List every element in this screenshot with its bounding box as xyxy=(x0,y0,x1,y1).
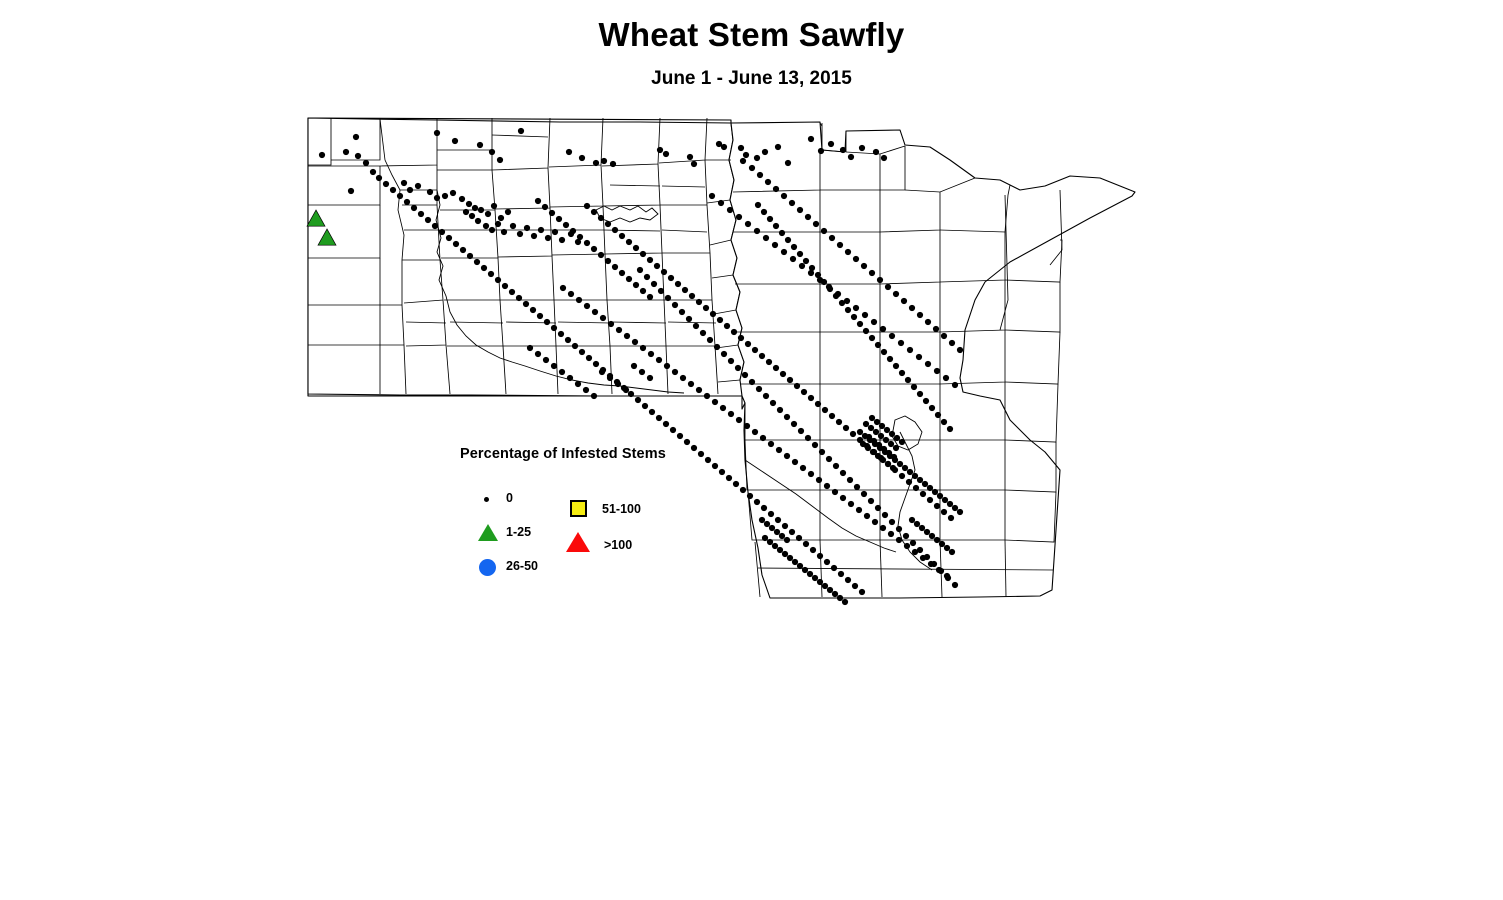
map-marker-0 xyxy=(883,437,889,443)
map-marker-0 xyxy=(495,221,501,227)
map-marker-0 xyxy=(775,144,781,150)
page-root: Wheat Stem Sawfly June 1 - June 13, 2015 xyxy=(0,0,1503,900)
map-marker-0 xyxy=(912,473,918,479)
map-marker-0 xyxy=(939,541,945,547)
map-marker-0 xyxy=(632,339,638,345)
map-marker-0 xyxy=(799,263,805,269)
map-marker-0 xyxy=(760,435,766,441)
map-marker-0 xyxy=(787,555,793,561)
map-marker-0 xyxy=(612,264,618,270)
map-marker-0 xyxy=(657,147,663,153)
map-marker-0 xyxy=(583,387,589,393)
map-marker-0 xyxy=(432,223,438,229)
map-marker-0 xyxy=(726,475,732,481)
map-marker-0 xyxy=(797,563,803,569)
map-marker-0 xyxy=(840,147,846,153)
map-marker-0 xyxy=(710,311,716,317)
map-marker-0 xyxy=(376,175,382,181)
map-marker-0 xyxy=(879,423,885,429)
map-marker-0 xyxy=(929,405,935,411)
map-marker-0 xyxy=(319,152,325,158)
map-marker-0 xyxy=(768,511,774,517)
map-marker-0 xyxy=(677,433,683,439)
map-marker-0 xyxy=(754,228,760,234)
map-marker-0 xyxy=(861,491,867,497)
map-marker-0 xyxy=(851,314,857,320)
map-marker-0 xyxy=(608,321,614,327)
map-marker-0 xyxy=(754,155,760,161)
map-marker-0 xyxy=(821,228,827,234)
map-marker-0 xyxy=(774,529,780,535)
map-marker-0 xyxy=(761,209,767,215)
map-marker-0 xyxy=(663,151,669,157)
map-marker-0 xyxy=(551,325,557,331)
map-marker-0 xyxy=(888,441,894,447)
map-marker-0 xyxy=(477,142,483,148)
green-triangle-icon xyxy=(476,520,502,546)
map-marker-0 xyxy=(466,201,472,207)
map-marker-0 xyxy=(885,284,891,290)
map-marker-0 xyxy=(563,222,569,228)
map-marker-0 xyxy=(714,344,720,350)
map-marker-0 xyxy=(937,493,943,499)
map-marker-0 xyxy=(475,218,481,224)
map-marker-0 xyxy=(469,213,475,219)
map-marker-0 xyxy=(807,571,813,577)
map-marker-0 xyxy=(619,270,625,276)
map-marker-0 xyxy=(733,481,739,487)
map-marker-0 xyxy=(845,577,851,583)
map-marker-0 xyxy=(912,549,918,555)
map-marker-0 xyxy=(822,407,828,413)
map-marker-0 xyxy=(639,369,645,375)
map-marker-0 xyxy=(773,365,779,371)
map-marker-0 xyxy=(948,515,954,521)
map-marker-0 xyxy=(656,415,662,421)
map-marker-0 xyxy=(875,505,881,511)
map-marker-0 xyxy=(575,381,581,387)
map-marker-0 xyxy=(875,342,881,348)
map-marker-0 xyxy=(633,282,639,288)
map-marker-0 xyxy=(847,477,853,483)
map-marker-0 xyxy=(680,375,686,381)
map-marker-0 xyxy=(853,305,859,311)
map-marker-0 xyxy=(658,288,664,294)
map-marker-0 xyxy=(934,537,940,543)
map-marker-0 xyxy=(881,349,887,355)
map-marker-0 xyxy=(757,172,763,178)
map-marker-0 xyxy=(624,333,630,339)
map-marker-0 xyxy=(628,391,634,397)
map-marker-0 xyxy=(559,237,565,243)
map-marker-0 xyxy=(909,305,915,311)
map-marker-0 xyxy=(872,519,878,525)
map-marker-0 xyxy=(418,211,424,217)
map-marker-0 xyxy=(453,241,459,247)
map-marker-0 xyxy=(892,457,898,463)
map-marker-0 xyxy=(887,453,893,459)
map-marker-0 xyxy=(808,471,814,477)
map-marker-0 xyxy=(495,277,501,283)
map-marker-0 xyxy=(552,229,558,235)
map-marker-0 xyxy=(850,431,856,437)
map-marker-0 xyxy=(952,382,958,388)
map-marker-0 xyxy=(766,359,772,365)
dot-icon xyxy=(476,486,502,512)
map-marker-0 xyxy=(584,240,590,246)
map-marker-0 xyxy=(826,456,832,462)
map-marker-0 xyxy=(605,221,611,227)
map-marker-0 xyxy=(763,393,769,399)
map-marker-0 xyxy=(736,214,742,220)
map-marker-0 xyxy=(782,551,788,557)
map-marker-0 xyxy=(927,485,933,491)
map-marker-0 xyxy=(686,316,692,322)
map-marker-0 xyxy=(809,265,815,271)
map-marker-0 xyxy=(543,357,549,363)
map-marker-0 xyxy=(838,571,844,577)
map-marker-0 xyxy=(856,507,862,513)
map-marker-0 xyxy=(572,343,578,349)
map-marker-0 xyxy=(797,251,803,257)
map-marker-0 xyxy=(446,235,452,241)
map-marker-0 xyxy=(821,279,827,285)
map-marker-0 xyxy=(893,291,899,297)
map-marker-0 xyxy=(640,288,646,294)
map-marker-0 xyxy=(839,300,845,306)
map-marker-0 xyxy=(425,217,431,223)
map-marker-0 xyxy=(872,441,878,447)
map-marker-0 xyxy=(870,449,876,455)
map-marker-0 xyxy=(949,340,955,346)
map-marker-0 xyxy=(460,247,466,253)
map-marker-0 xyxy=(404,199,410,205)
red-triangle-icon xyxy=(566,530,592,556)
map-marker-0 xyxy=(605,258,611,264)
map-marker-0 xyxy=(929,533,935,539)
map-marker-0 xyxy=(411,205,417,211)
blue-circle-icon xyxy=(476,554,502,580)
map-marker-0 xyxy=(576,297,582,303)
map-marker-0 xyxy=(707,337,713,343)
map-marker-0 xyxy=(742,372,748,378)
map-marker-0 xyxy=(865,445,871,451)
map-marker-0 xyxy=(656,357,662,363)
map-marker-0 xyxy=(738,145,744,151)
map-marker-0 xyxy=(829,235,835,241)
map-marker-0 xyxy=(545,235,551,241)
map-marker-0 xyxy=(947,426,953,432)
map-marker-0 xyxy=(904,543,910,549)
map-marker-0 xyxy=(832,591,838,597)
map-marker-0 xyxy=(488,271,494,277)
map-marker-0 xyxy=(947,501,953,507)
map-marker-0 xyxy=(845,249,851,255)
map-marker-0 xyxy=(749,165,755,171)
map-marker-0 xyxy=(861,263,867,269)
map-marker-0 xyxy=(911,384,917,390)
map-marker-0 xyxy=(518,128,524,134)
map-marker-0 xyxy=(696,299,702,305)
map-marker-0 xyxy=(832,489,838,495)
map-marker-0 xyxy=(863,421,869,427)
map-marker-0 xyxy=(736,417,742,423)
map-marker-0 xyxy=(864,513,870,519)
map-marker-0 xyxy=(819,449,825,455)
map-marker-0 xyxy=(836,419,842,425)
map-marker-0 xyxy=(862,312,868,318)
map-marker-0 xyxy=(801,389,807,395)
map-marker-0 xyxy=(923,398,929,404)
map-marker-0 xyxy=(754,499,760,505)
map-marker-0 xyxy=(600,315,606,321)
map-marker-0 xyxy=(647,294,653,300)
map-marker-0 xyxy=(824,559,830,565)
map-marker-0 xyxy=(917,312,923,318)
map-marker-0 xyxy=(805,435,811,441)
map-marker-0 xyxy=(579,155,585,161)
map-marker-0 xyxy=(763,235,769,241)
map-marker-0 xyxy=(721,351,727,357)
map-marker-0 xyxy=(355,153,361,159)
map-marker-0 xyxy=(800,465,806,471)
map-marker-0 xyxy=(877,445,883,451)
map-marker-0 xyxy=(544,319,550,325)
map-marker-0 xyxy=(684,439,690,445)
map-marker-0 xyxy=(792,559,798,565)
map-marker-0 xyxy=(880,457,886,463)
map-marker-0 xyxy=(769,525,775,531)
map-marker-0 xyxy=(773,223,779,229)
map-marker-0 xyxy=(348,188,354,194)
map-marker-0 xyxy=(815,401,821,407)
map-marker-0 xyxy=(899,370,905,376)
map-marker-0 xyxy=(790,256,796,262)
map-marker-0 xyxy=(712,399,718,405)
map-marker-0 xyxy=(558,331,564,337)
map-marker-0 xyxy=(888,531,894,537)
map-marker-0 xyxy=(868,498,874,504)
map-marker-0 xyxy=(794,383,800,389)
map-marker-0 xyxy=(407,187,413,193)
map-marker-0 xyxy=(935,412,941,418)
map-marker-0 xyxy=(791,421,797,427)
map-marker-0 xyxy=(803,541,809,547)
map-marker-0 xyxy=(853,256,859,262)
map-marker-0 xyxy=(893,445,899,451)
map-marker-0 xyxy=(523,301,529,307)
map-marker-0 xyxy=(867,437,873,443)
map-marker-0 xyxy=(917,477,923,483)
map-marker-0 xyxy=(363,160,369,166)
map-marker-0 xyxy=(772,242,778,248)
map-marker-0 xyxy=(740,487,746,493)
map-marker-0 xyxy=(535,198,541,204)
map-marker-0 xyxy=(467,253,473,259)
map-marker-0 xyxy=(802,567,808,573)
map-marker-0 xyxy=(803,258,809,264)
map-marker-0 xyxy=(745,221,751,227)
map-marker-0 xyxy=(651,281,657,287)
map-marker-0 xyxy=(537,313,543,319)
map-marker-0 xyxy=(889,333,895,339)
map-marker-0 xyxy=(917,391,923,397)
map-marker-0 xyxy=(828,141,834,147)
map-marker-0 xyxy=(542,204,548,210)
map-marker-0 xyxy=(607,375,613,381)
map-marker-0 xyxy=(910,540,916,546)
map-marker-0 xyxy=(693,323,699,329)
map-marker-0 xyxy=(560,285,566,291)
map-marker-0 xyxy=(833,463,839,469)
map-marker-0 xyxy=(401,180,407,186)
map-marker-0 xyxy=(747,493,753,499)
map-marker-0 xyxy=(777,407,783,413)
map-marker-0 xyxy=(781,249,787,255)
map-marker-0 xyxy=(566,149,572,155)
map-marker-0 xyxy=(635,397,641,403)
map-marker-0 xyxy=(885,461,891,467)
map-marker-0 xyxy=(577,234,583,240)
map-marker-0 xyxy=(785,237,791,243)
map-marker-0 xyxy=(591,393,597,399)
map-marker-0 xyxy=(626,276,632,282)
map-marker-0 xyxy=(827,286,833,292)
map-marker-0 xyxy=(952,505,958,511)
map-marker-0 xyxy=(593,160,599,166)
map-marker-0 xyxy=(593,361,599,367)
map-marker-0 xyxy=(808,136,814,142)
map-marker-0 xyxy=(816,477,822,483)
minnesota-outline xyxy=(729,122,1135,598)
map-marker-0 xyxy=(491,203,497,209)
map-marker-0 xyxy=(922,481,928,487)
map-marker-0 xyxy=(743,152,749,158)
map-marker-0 xyxy=(764,521,770,527)
map-marker-0 xyxy=(881,155,887,161)
map-marker-0 xyxy=(668,275,674,281)
map-marker-0 xyxy=(584,203,590,209)
map-marker-0 xyxy=(459,196,465,202)
map-marker-0 xyxy=(903,533,909,539)
map-marker-0 xyxy=(675,281,681,287)
map-marker-0 xyxy=(933,326,939,332)
map-marker-0 xyxy=(700,330,706,336)
map-marker-0 xyxy=(833,293,839,299)
map-marker-0 xyxy=(957,347,963,353)
map-marker-0 xyxy=(896,526,902,532)
map-marker-0 xyxy=(481,265,487,271)
map-marker-0 xyxy=(434,195,440,201)
map-marker-0 xyxy=(637,267,643,273)
map-marker-0 xyxy=(535,351,541,357)
map-marker-0 xyxy=(672,302,678,308)
map-marker-0 xyxy=(463,209,469,215)
map-marker-0 xyxy=(840,495,846,501)
map-marker-0 xyxy=(894,435,900,441)
map-marker-0 xyxy=(709,193,715,199)
map-marker-0 xyxy=(567,375,573,381)
map-marker-0 xyxy=(598,252,604,258)
map-marker-0 xyxy=(565,337,571,343)
map-marker-0 xyxy=(919,525,925,531)
map-marker-0 xyxy=(616,327,622,333)
map-marker-0 xyxy=(873,429,879,435)
map-marker-0 xyxy=(353,134,359,140)
legend: Percentage of Infested Stems 0 1-25 26-5… xyxy=(458,446,718,586)
map-marker-0 xyxy=(434,130,440,136)
map-marker-0 xyxy=(812,442,818,448)
map-marker-0 xyxy=(633,245,639,251)
map-marker-0 xyxy=(527,345,533,351)
map-marker-0 xyxy=(869,415,875,421)
map-marker-0 xyxy=(779,533,785,539)
map-container xyxy=(0,0,1503,900)
map-marker-0 xyxy=(538,227,544,233)
map-marker-0 xyxy=(868,425,874,431)
map-marker-0 xyxy=(767,216,773,222)
map-marker-0 xyxy=(452,138,458,144)
map-marker-0 xyxy=(884,427,890,433)
map-marker-0 xyxy=(642,403,648,409)
map-svg xyxy=(0,0,1503,900)
map-marker-0 xyxy=(907,469,913,475)
map-marker-0 xyxy=(781,193,787,199)
map-marker-0 xyxy=(510,223,516,229)
map-marker-0 xyxy=(601,158,607,164)
map-marker-0 xyxy=(767,539,773,545)
map-marker-0 xyxy=(932,489,938,495)
map-marker-0 xyxy=(862,433,868,439)
map-marker-0 xyxy=(928,561,934,567)
map-marker-0 xyxy=(654,263,660,269)
map-marker-0 xyxy=(784,453,790,459)
map-marker-0 xyxy=(631,363,637,369)
map-marker-0 xyxy=(882,449,888,455)
legend-label-0: 0 xyxy=(506,491,513,505)
map-marker-0 xyxy=(848,154,854,160)
map-marker-0 xyxy=(755,202,761,208)
map-marker-0 xyxy=(756,386,762,392)
map-marker-0 xyxy=(696,387,702,393)
map-marker-0 xyxy=(450,190,456,196)
map-marker-0 xyxy=(905,377,911,383)
map-marker-0 xyxy=(812,575,818,581)
map-marker-0 xyxy=(599,369,605,375)
map-marker-0 xyxy=(898,340,904,346)
map-marker-0 xyxy=(591,246,597,252)
map-marker-0 xyxy=(759,353,765,359)
map-marker-0 xyxy=(831,565,837,571)
map-marker-0 xyxy=(551,363,557,369)
map-marker-0 xyxy=(936,567,942,573)
map-marker-0 xyxy=(798,428,804,434)
map-marker-0 xyxy=(744,423,750,429)
map-marker-0 xyxy=(854,484,860,490)
map-marker-0 xyxy=(483,223,489,229)
map-marker-0 xyxy=(941,509,947,515)
map-marker-0 xyxy=(665,295,671,301)
map-marker-0 xyxy=(688,381,694,387)
map-marker-0 xyxy=(390,187,396,193)
map-marker-0 xyxy=(920,555,926,561)
map-marker-0 xyxy=(877,277,883,283)
map-marker-0 xyxy=(649,409,655,415)
map-marker-0 xyxy=(579,349,585,355)
map-marker-0 xyxy=(924,529,930,535)
map-marker-0 xyxy=(497,157,503,163)
map-marker-0 xyxy=(773,186,779,192)
